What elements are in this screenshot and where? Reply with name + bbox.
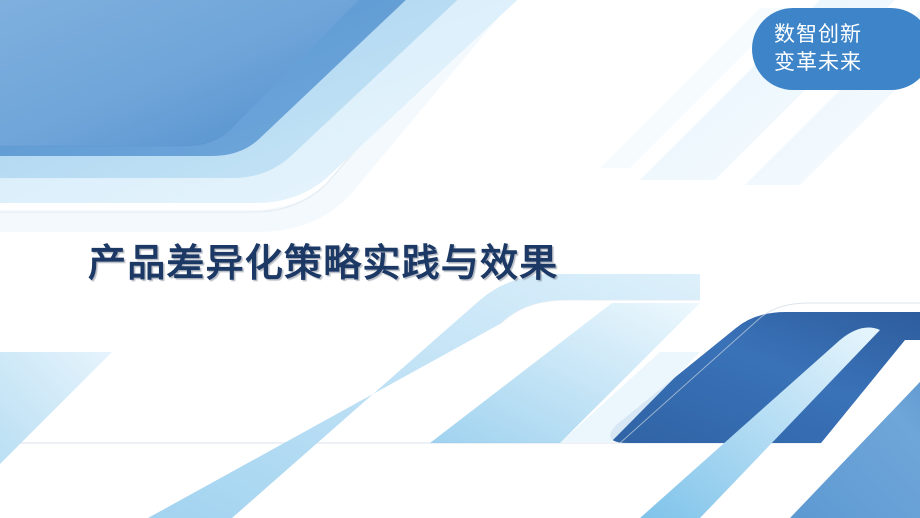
corner-badge: 数智创新 变革未来 — [752, 8, 920, 90]
title-slide: 数智创新 变革未来 产品差异化策略实践与效果 — [0, 0, 920, 518]
page-title: 产品差异化策略实践与效果 — [88, 232, 558, 287]
badge-line-2: 变革未来 — [774, 49, 862, 77]
badge-line-1: 数智创新 — [774, 21, 862, 49]
